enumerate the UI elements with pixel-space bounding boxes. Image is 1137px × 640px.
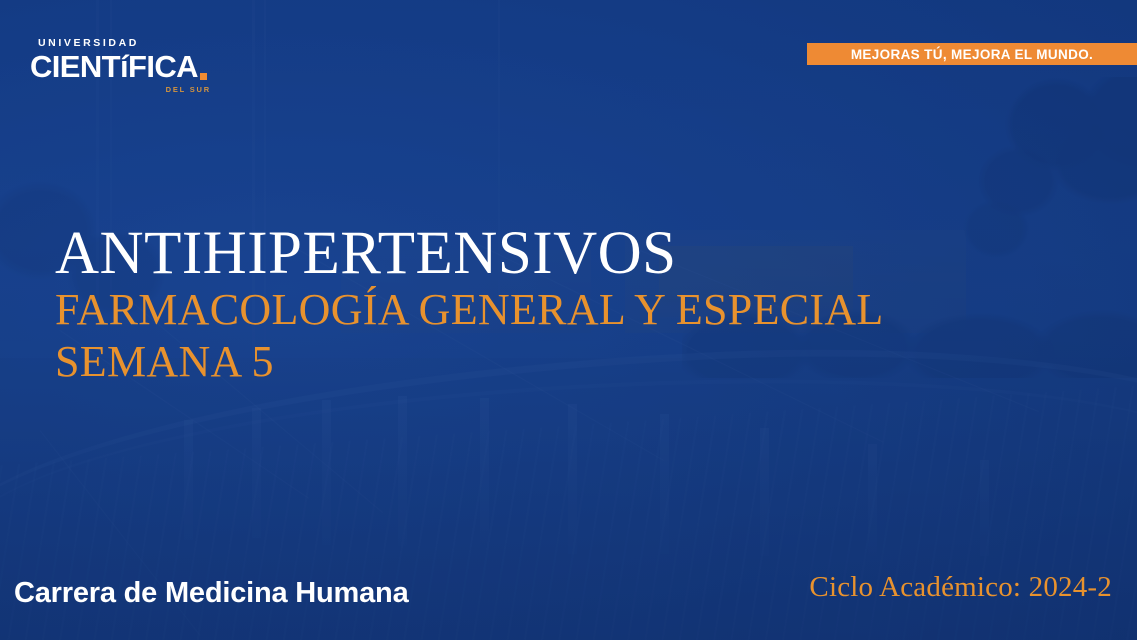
university-logo: UNIVERSIDAD CIENTíFICA DEL SUR bbox=[30, 38, 215, 94]
tagline-text: MEJORAS TÚ, MEJORA EL MUNDO. bbox=[851, 47, 1093, 62]
logo-line-universidad: UNIVERSIDAD bbox=[38, 38, 215, 49]
logo-accent-dot-icon bbox=[200, 73, 207, 80]
slide-subtitle-week: SEMANA 5 bbox=[55, 336, 884, 388]
title-block: ANTIHIPERTENSIVOS FARMACOLOGÍA GENERAL Y… bbox=[55, 224, 884, 388]
logo-wordmark: CIENTíFICA bbox=[30, 51, 198, 82]
slide-subtitle-course: FARMACOLOGÍA GENERAL Y ESPECIAL bbox=[55, 284, 884, 336]
presentation-slide: UNIVERSIDAD CIENTíFICA DEL SUR MEJORAS T… bbox=[0, 0, 1137, 640]
program-name: Carrera de Medicina Humana bbox=[14, 577, 409, 610]
slide-content: UNIVERSIDAD CIENTíFICA DEL SUR MEJORAS T… bbox=[0, 0, 1137, 640]
logo-line-cientifica: CIENTíFICA bbox=[30, 51, 215, 82]
slide-title: ANTIHIPERTENSIVOS bbox=[55, 224, 884, 284]
academic-cycle: Ciclo Académico: 2024-2 bbox=[809, 571, 1112, 604]
tagline-banner: MEJORAS TÚ, MEJORA EL MUNDO. bbox=[807, 43, 1137, 65]
logo-line-del-sur: DEL SUR bbox=[30, 85, 215, 94]
